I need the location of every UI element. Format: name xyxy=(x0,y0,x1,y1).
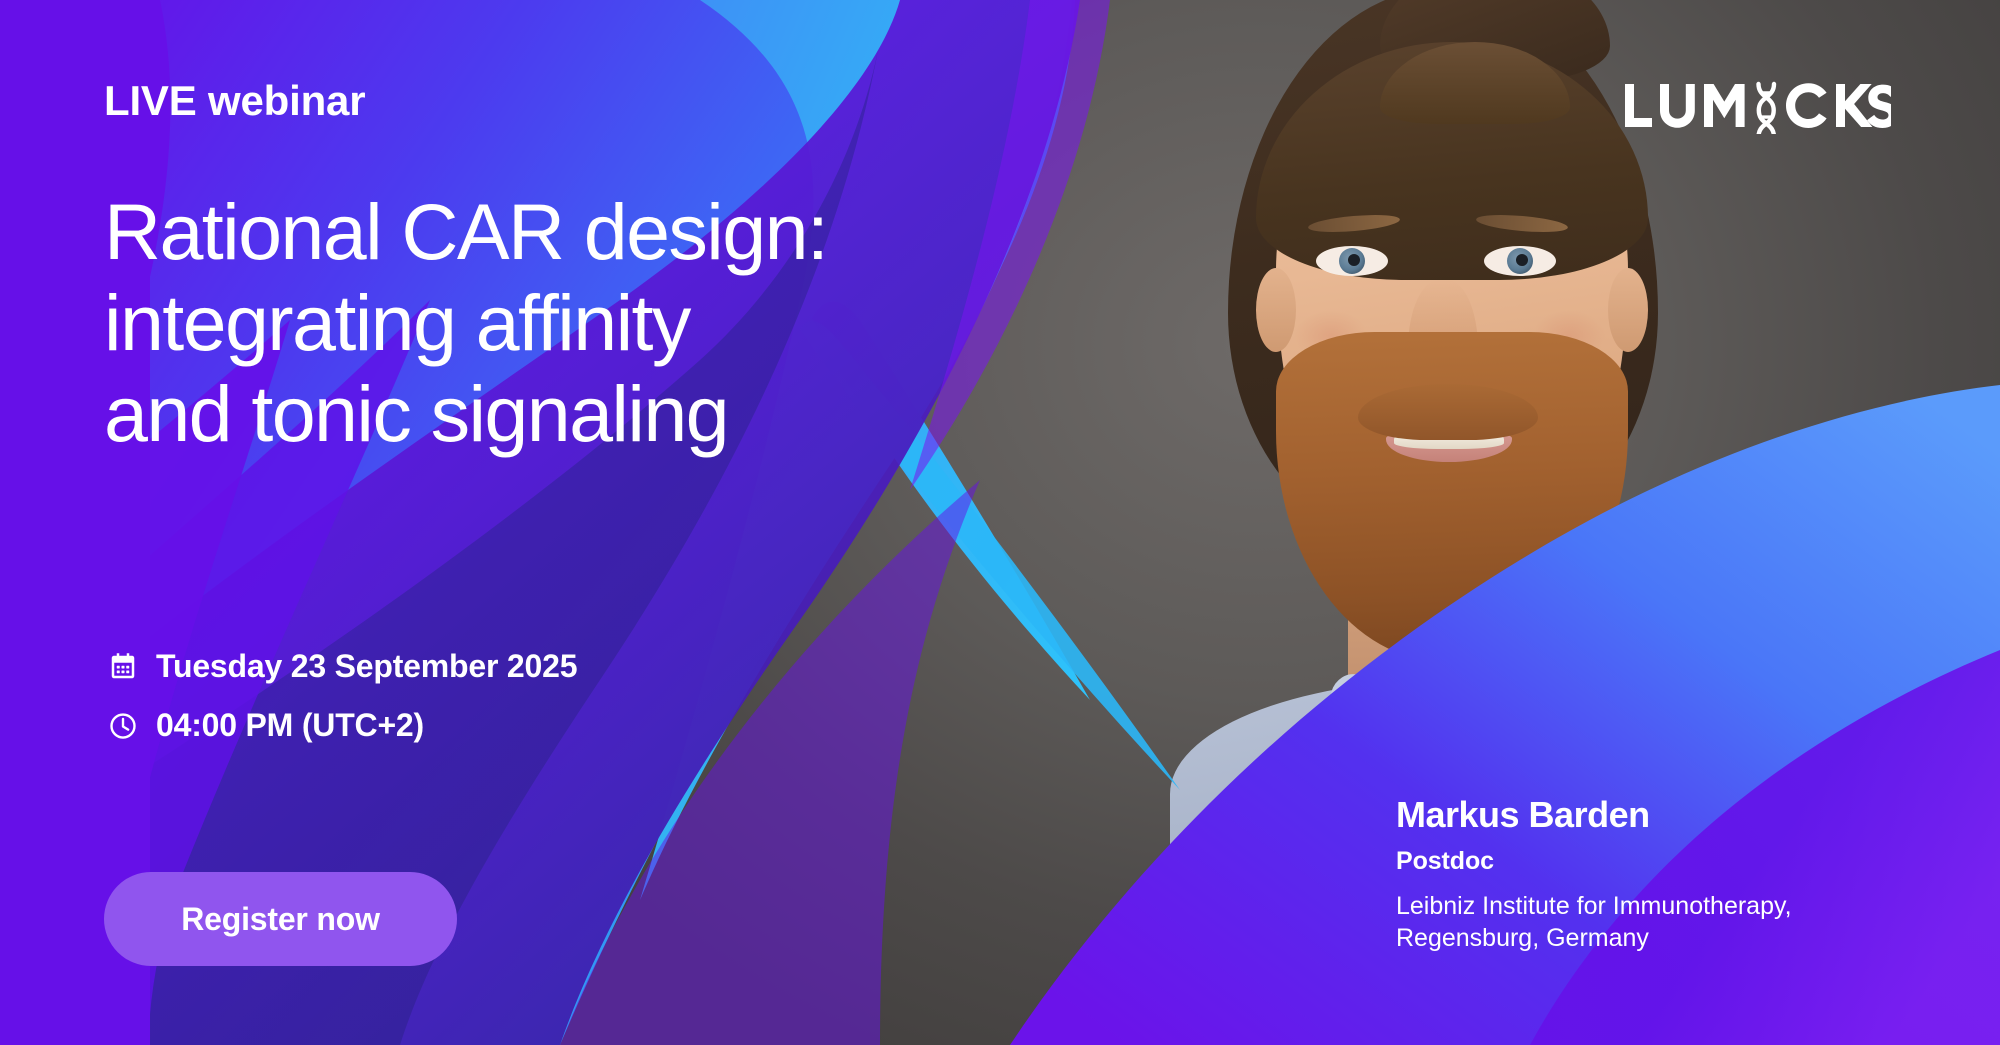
event-time-row: 04:00 PM (UTC+2) xyxy=(108,707,577,744)
headline-line-2: integrating affinity xyxy=(104,277,984,368)
event-date: Tuesday 23 September 2025 xyxy=(156,648,577,685)
banner-content: LIVE webinar Rational CAR design: integr… xyxy=(0,0,2000,1045)
headline-line-3: and tonic signaling xyxy=(104,368,984,459)
page-title: Rational CAR design: integrating affinit… xyxy=(104,186,984,460)
speaker-info: Markus Barden Postdoc Leibniz Institute … xyxy=(1396,795,1916,955)
eyebrow-label: LIVE webinar xyxy=(104,77,365,125)
speaker-role: Postdoc xyxy=(1396,847,1916,876)
event-time: 04:00 PM (UTC+2) xyxy=(156,707,424,744)
webinar-banner: LIVE webinar Rational CAR design: integr… xyxy=(0,0,2000,1045)
eyebrow-rest: webinar xyxy=(197,77,366,124)
lumicks-logo[interactable] xyxy=(1623,78,1891,134)
headline-line-1: Rational CAR design: xyxy=(104,186,984,277)
register-now-button[interactable]: Register now xyxy=(104,872,457,966)
calendar-icon xyxy=(108,652,138,682)
speaker-name: Markus Barden xyxy=(1396,795,1916,835)
dna-helix-icon xyxy=(1759,84,1775,134)
speaker-affiliation: Leibniz Institute for Immunotherapy, Reg… xyxy=(1396,890,1916,955)
clock-icon xyxy=(108,711,138,741)
event-date-row: Tuesday 23 September 2025 xyxy=(108,648,577,685)
event-details: Tuesday 23 September 2025 04:00 PM (UTC+… xyxy=(108,648,577,766)
eyebrow-live: LIVE xyxy=(104,77,197,124)
